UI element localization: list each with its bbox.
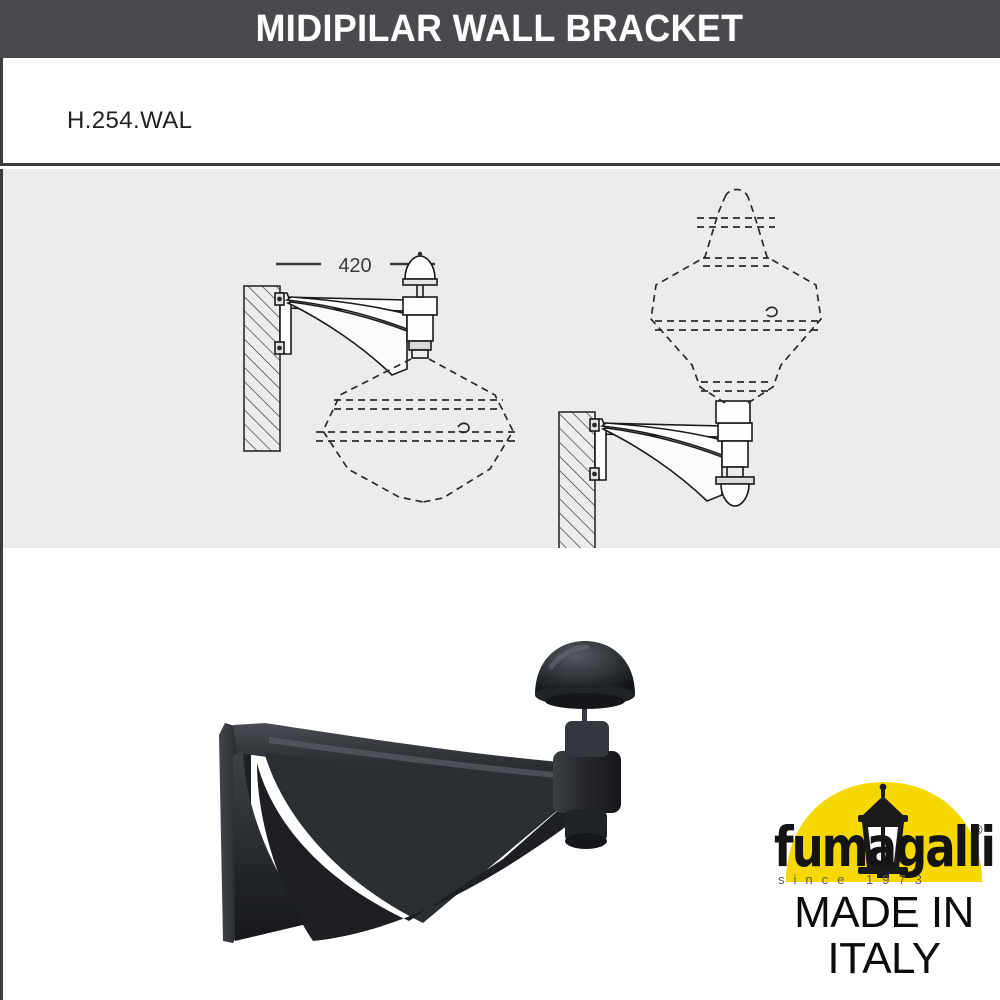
logo-wordmark: fumagalli bbox=[774, 820, 994, 875]
title-bar: MIDIPILAR WALL BRACKET bbox=[0, 0, 1000, 58]
logo-tagline: since 1973 bbox=[778, 872, 992, 887]
italy-line: ITALY bbox=[770, 936, 998, 982]
registered-trademark-symbol: ® bbox=[973, 822, 983, 837]
product-code: H.254.WAL bbox=[67, 107, 192, 135]
socket-head-left bbox=[403, 252, 437, 358]
drawing-view-lantern-down: 420 bbox=[244, 252, 519, 502]
fumagalli-logo: fumagalli ® since 1973 MADE IN ITALY bbox=[770, 772, 998, 1000]
bracket-arm-right bbox=[590, 419, 722, 501]
made-in-italy-text: MADE IN ITALY bbox=[770, 890, 998, 982]
logo-wordmark-wrap: fumagalli ® bbox=[770, 820, 998, 870]
wall-hatched-left bbox=[244, 286, 280, 451]
product-datasheet: MIDIPILAR WALL BRACKET H.254.WAL 420 bbox=[0, 0, 1000, 1000]
technical-drawings: 420 bbox=[3, 169, 1000, 548]
socket-collar-bottom-cap bbox=[565, 833, 607, 849]
bracket-arm-left bbox=[275, 293, 407, 375]
lantern-outline-up bbox=[651, 190, 821, 404]
socket-collar-main bbox=[553, 751, 621, 813]
dimension-420-label: 420 bbox=[338, 255, 371, 277]
product-code-row: H.254.WAL bbox=[0, 58, 1000, 166]
drawing-view-lantern-up bbox=[559, 190, 821, 549]
socket-collar-upper bbox=[565, 721, 609, 757]
dome-cap bbox=[535, 641, 635, 709]
technical-drawing-panel: 420 bbox=[0, 169, 1000, 548]
lantern-outline-down bbox=[316, 359, 519, 502]
socket-head-right bbox=[716, 401, 754, 506]
product-photo bbox=[173, 623, 673, 973]
page-title: MIDIPILAR WALL BRACKET bbox=[256, 10, 744, 48]
made-in-line: MADE IN bbox=[770, 890, 998, 936]
code-row-divider bbox=[3, 163, 1000, 166]
